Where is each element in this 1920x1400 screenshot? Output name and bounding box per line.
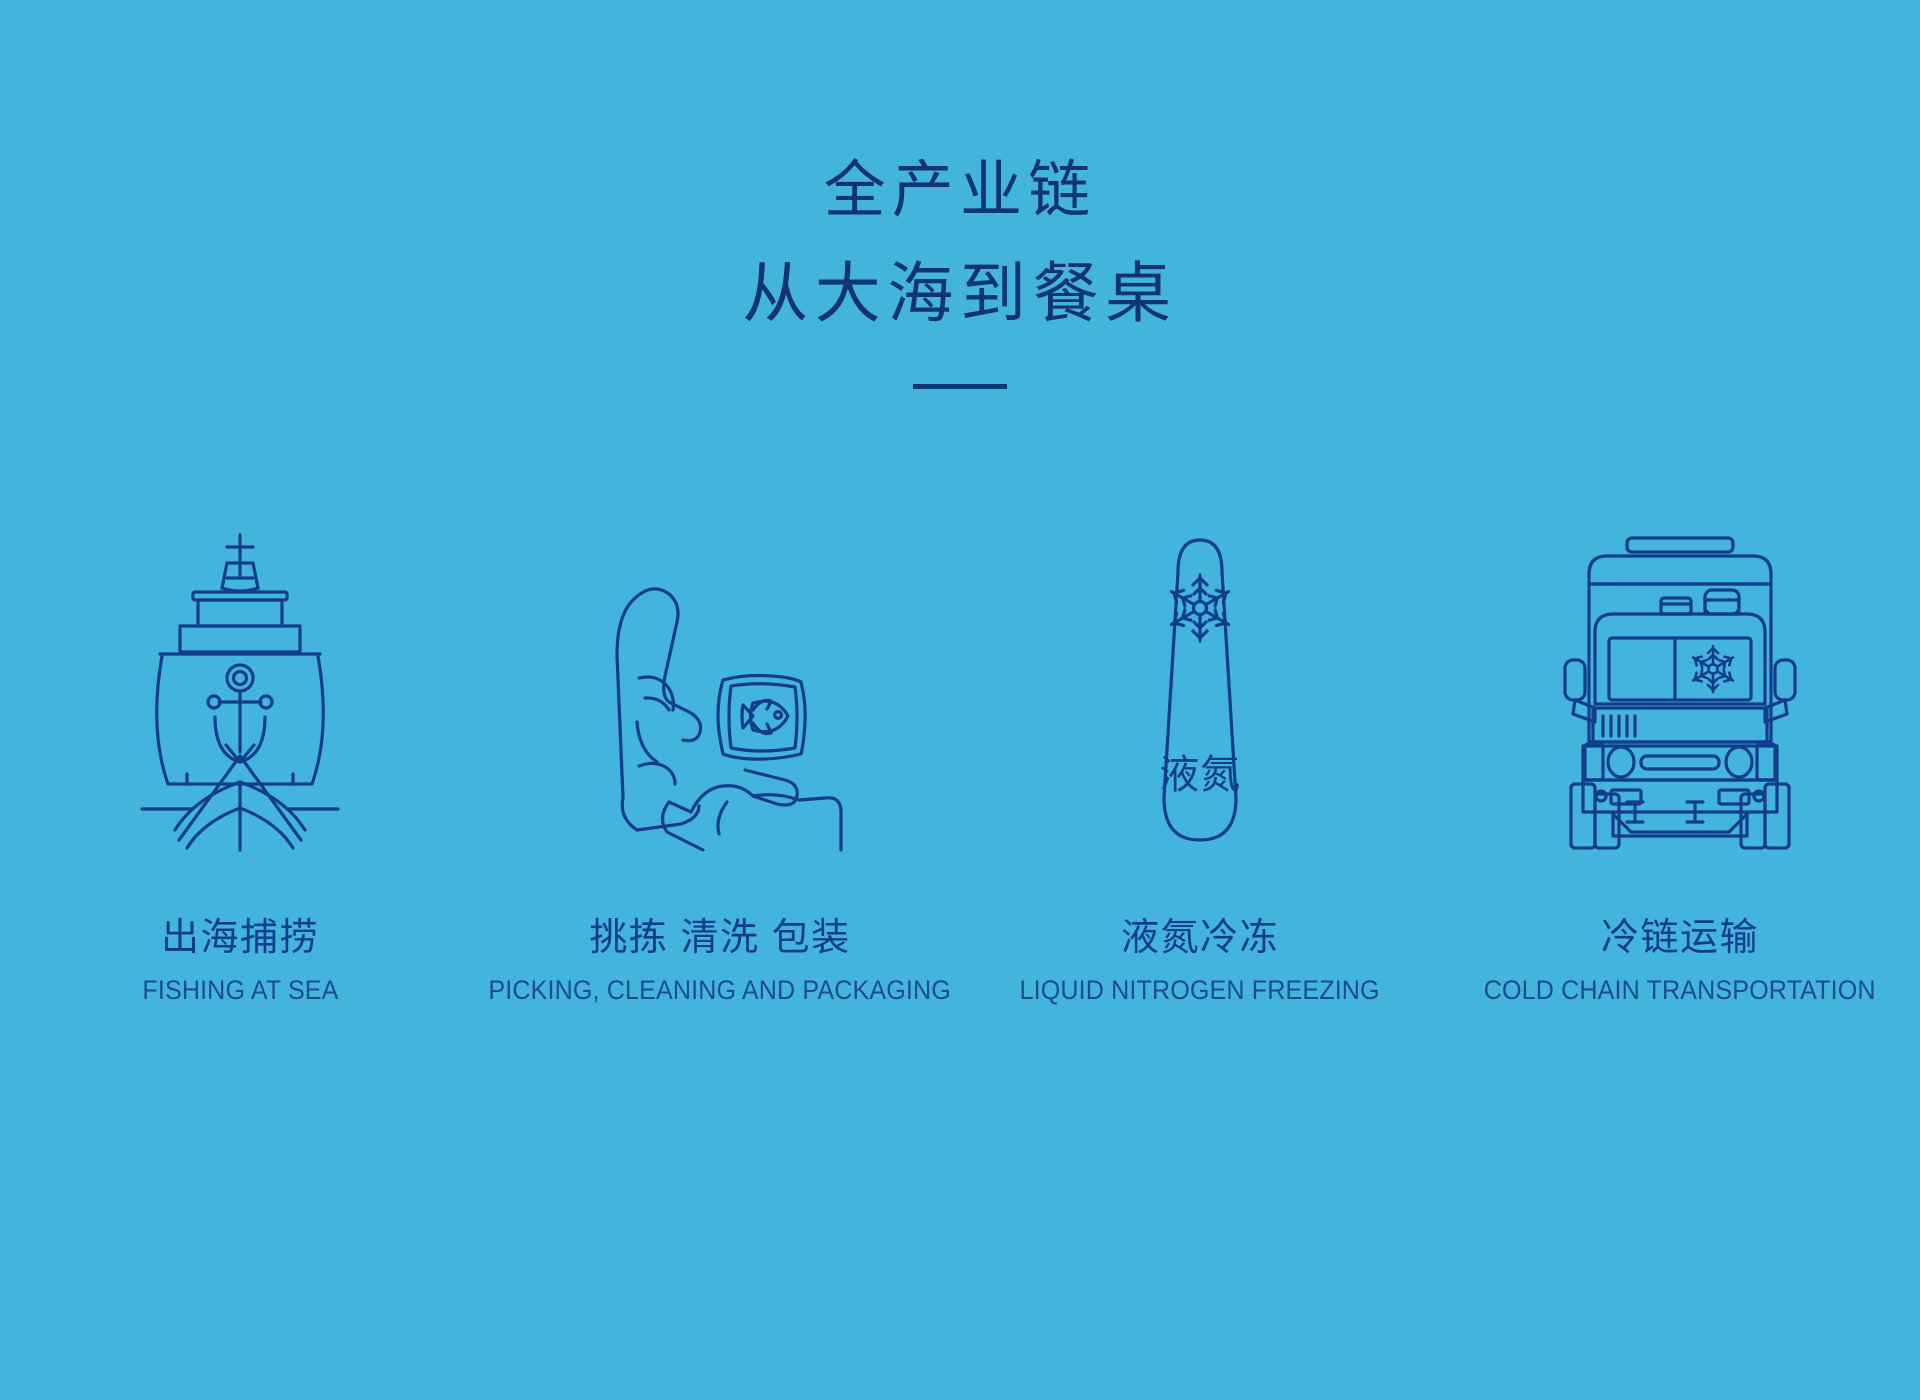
step-icon-container [595, 520, 845, 850]
step-icon-container: 液氮 [1140, 520, 1260, 850]
step-fishing-at-sea[interactable]: 出海捕捞 FISHING AT SEA [0, 520, 480, 1005]
refrigerated-truck-icon [1555, 532, 1805, 850]
page-header: 全产业链 从大海到餐桌 [0, 0, 1920, 389]
step-label-cn: 冷链运输 [1469, 918, 1890, 960]
step-label-en: LIQUID NITROGEN FREEZING [1020, 976, 1380, 1006]
step-icon-container [1555, 520, 1805, 850]
page-title-secondary: 从大海到餐桌 [0, 251, 1920, 339]
step-label-en: PICKING, CLEANING AND PACKAGING [489, 976, 951, 1006]
step-label-en: COLD CHAIN TRANSPORTATION [1484, 976, 1876, 1006]
step-label-cn: 液氮冷冻 [1006, 918, 1393, 960]
hands-fish-packet-icon [595, 550, 845, 850]
snowflake-icon [1691, 646, 1736, 692]
step-label-cn: 挑拣 清洗 包装 [471, 918, 968, 960]
step-label-cn: 出海捕捞 [135, 918, 346, 960]
step-picking-cleaning-packaging[interactable]: 挑拣 清洗 包装 PICKING, CLEANING AND PACKAGING [480, 520, 960, 1005]
step-labels: 冷链运输 COLD CHAIN TRANSPORTATION [1469, 918, 1890, 1005]
step-cold-chain-transportation[interactable]: 冷链运输 COLD CHAIN TRANSPORTATION [1440, 520, 1920, 1005]
step-labels: 出海捕捞 FISHING AT SEA [135, 918, 346, 1005]
step-icon-container [135, 520, 345, 850]
step-liquid-nitrogen-freezing[interactable]: 液氮 液氮冷冻 LIQUID NITROGEN FREEZING [960, 520, 1440, 1005]
page-title-primary: 全产业链 [0, 150, 1920, 233]
tank-inner-label: 液氮 [1159, 753, 1241, 797]
liquid-nitrogen-tank-icon: 液氮 [1140, 530, 1260, 850]
title-divider [913, 384, 1007, 389]
title-divider-wrap [0, 384, 1920, 389]
step-labels: 液氮冷冻 LIQUID NITROGEN FREEZING [1006, 918, 1393, 1005]
step-labels: 挑拣 清洗 包装 PICKING, CLEANING AND PACKAGING [471, 918, 968, 1005]
step-label-en: FISHING AT SEA [142, 976, 338, 1006]
fishing-boat-anchor-icon [135, 530, 345, 850]
process-steps-row: 出海捕捞 FISHING AT SEA [0, 520, 1920, 1005]
